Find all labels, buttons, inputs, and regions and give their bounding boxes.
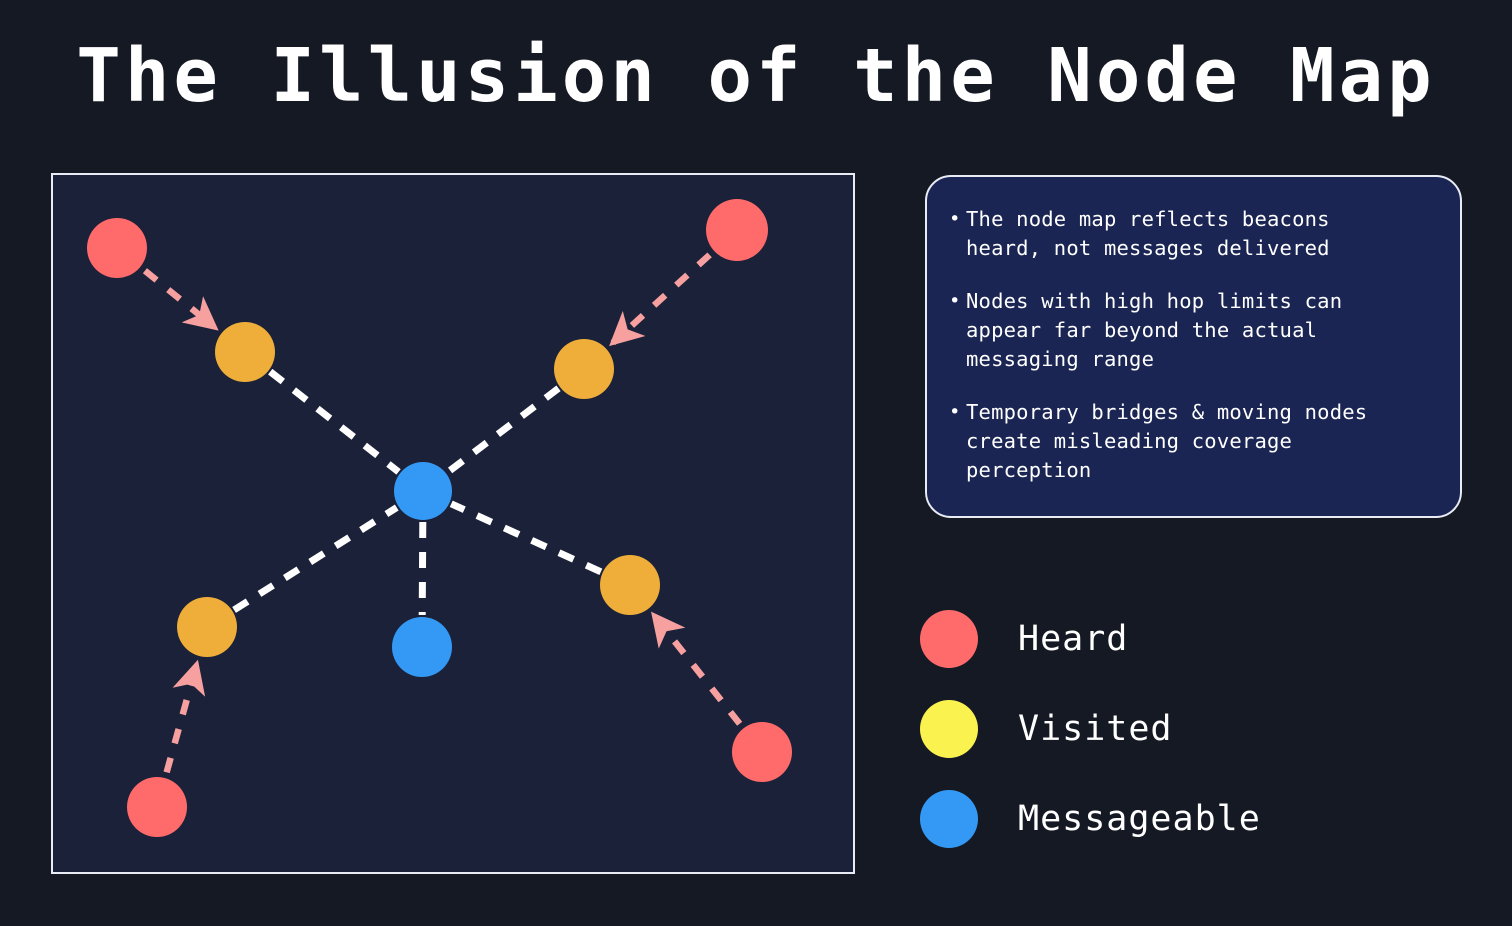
bullet-marker-icon: • xyxy=(949,205,966,234)
graph-node-heard-bottom-left[interactable] xyxy=(127,777,187,837)
graph-node-hub-center[interactable] xyxy=(394,462,452,520)
graph-node-relay-top-right[interactable] xyxy=(554,339,614,399)
graph-node-heard-top-right[interactable] xyxy=(706,199,768,261)
insight-bullet-text: Nodes with high hop limits can appear fa… xyxy=(966,287,1342,374)
insight-bullet-text: Temporary bridges & moving nodes create … xyxy=(966,398,1367,485)
legend-item[interactable]: Heard xyxy=(920,594,1480,684)
heard-arrow xyxy=(613,255,710,343)
heard-arrow xyxy=(167,665,197,773)
legend-item[interactable]: Messageable xyxy=(920,774,1480,864)
node-map-diagram-panel xyxy=(51,173,855,874)
insight-bullet: •Nodes with high hop limits can appear f… xyxy=(949,287,1434,374)
graph-node-relay-bottom-left[interactable] xyxy=(177,597,237,657)
legend-swatch-circle-icon xyxy=(920,700,978,758)
graph-node-heard-top-left[interactable] xyxy=(87,218,147,278)
insight-bullet-text: The node map reflects beacons heard, not… xyxy=(966,205,1330,263)
heard-arrow xyxy=(145,271,215,328)
legend-label: Messageable xyxy=(1018,799,1261,839)
bullet-marker-icon: • xyxy=(949,287,966,316)
legend-label: Heard xyxy=(1018,619,1128,659)
mesh-edge xyxy=(448,388,559,472)
mesh-edge xyxy=(451,504,601,572)
mesh-edge xyxy=(234,508,397,610)
node-map-graph xyxy=(53,175,853,872)
legend-swatch-circle-icon xyxy=(920,610,978,668)
nodes-layer xyxy=(87,199,792,837)
graph-node-relay-top-left[interactable] xyxy=(215,322,275,382)
graph-node-relay-bottom-right[interactable] xyxy=(600,555,660,615)
insight-bullet: •Temporary bridges & moving nodes create… xyxy=(949,398,1434,485)
bullet-marker-icon: • xyxy=(949,398,966,427)
legend: HeardVisitedMessageable xyxy=(920,594,1480,864)
legend-label: Visited xyxy=(1018,709,1173,749)
heard-arrow xyxy=(654,616,739,724)
legend-swatch-circle-icon xyxy=(920,790,978,848)
page-title: The Illusion of the Node Map xyxy=(0,36,1512,117)
graph-node-messageable-lower[interactable] xyxy=(392,617,452,677)
insights-panel: •The node map reflects beacons heard, no… xyxy=(925,175,1462,518)
mesh-edge xyxy=(270,372,398,472)
legend-item[interactable]: Visited xyxy=(920,684,1480,774)
insight-bullet: •The node map reflects beacons heard, no… xyxy=(949,205,1434,263)
graph-node-heard-bottom-right[interactable] xyxy=(732,722,792,782)
mesh-edge xyxy=(422,522,423,615)
